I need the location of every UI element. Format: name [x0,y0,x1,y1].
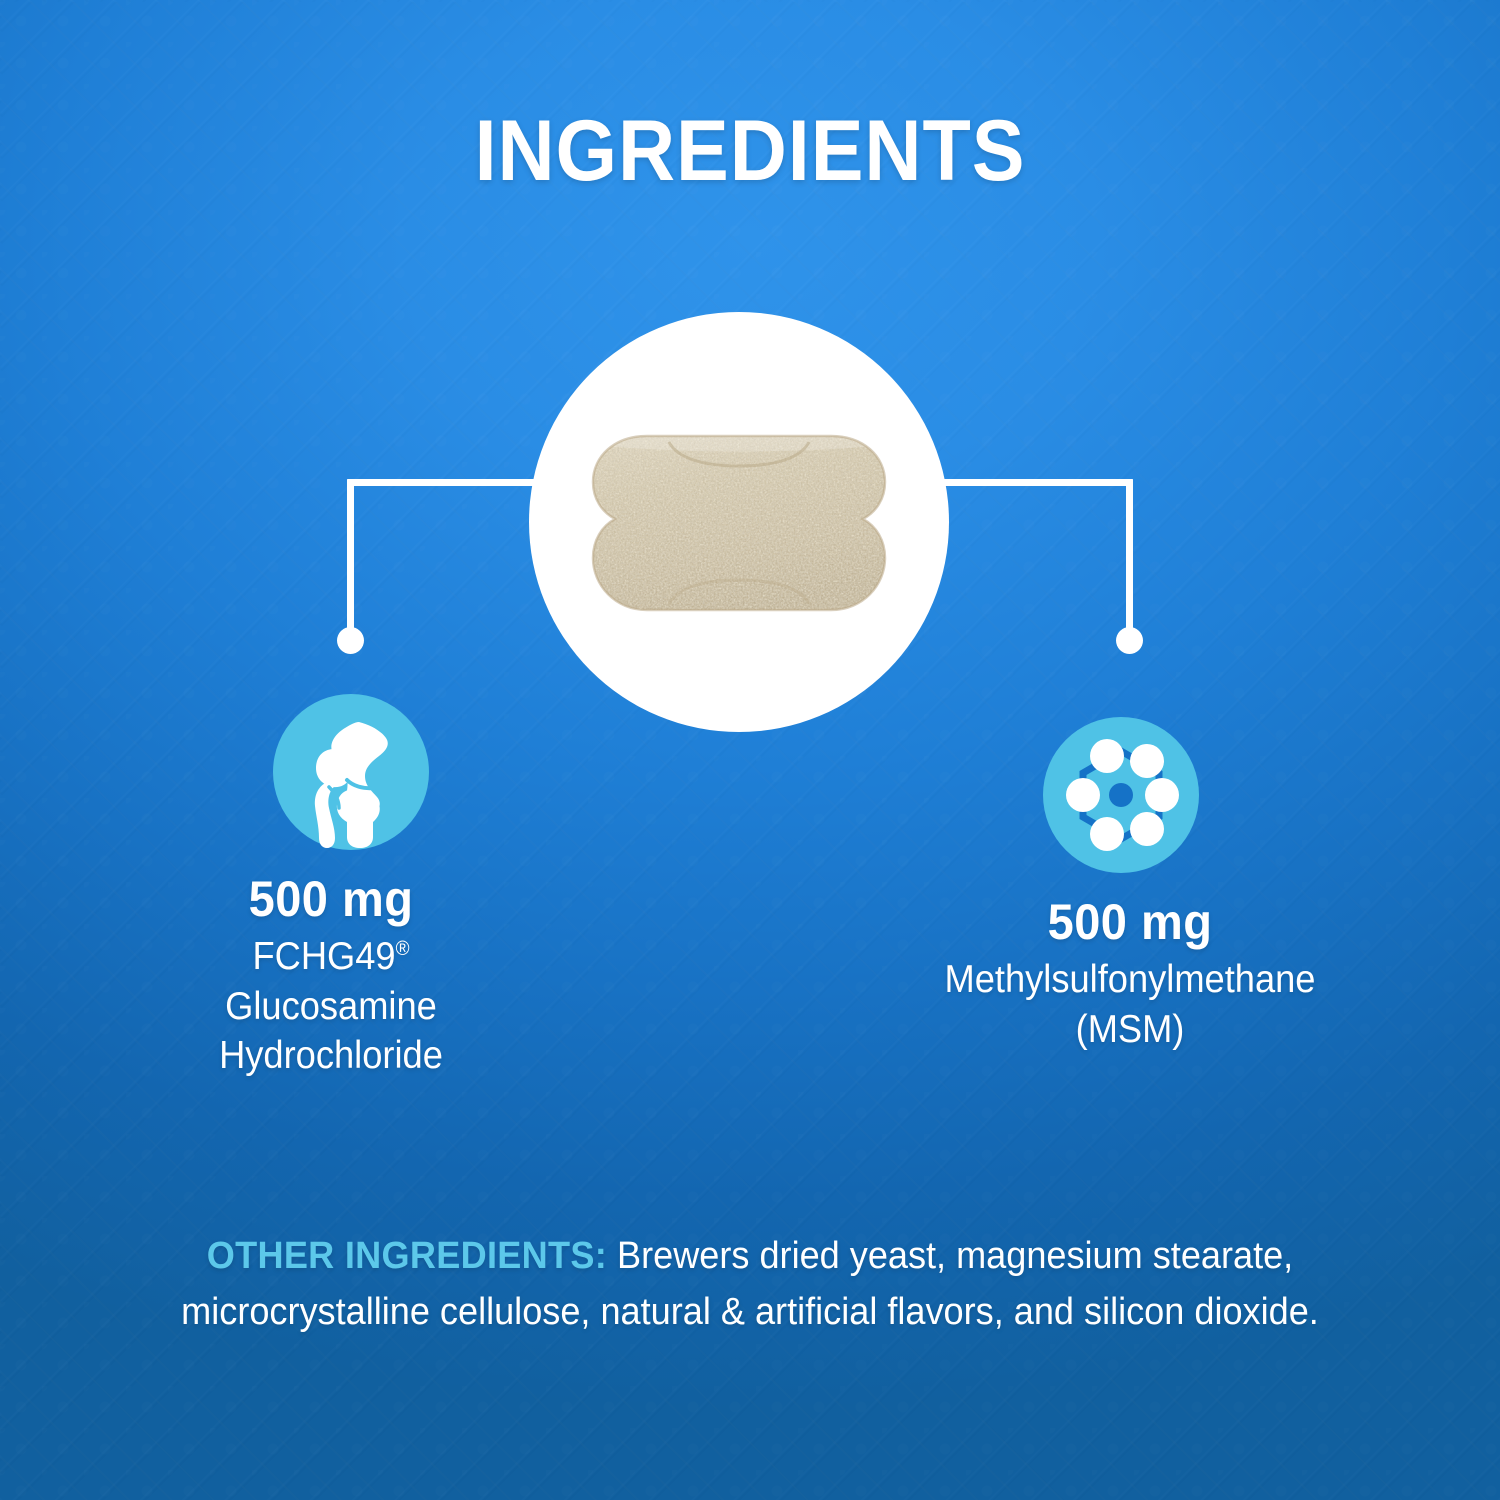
ingredient-block-right: 500 mg Methylsulfonylmethane (MSM) [860,895,1400,1054]
ingredient-name-left: FCHG49® Glucosamine Hydrochloride [116,932,546,1081]
registered-trademark-symbol: ® [396,938,410,960]
ingredient-name-right: Methylsulfonylmethane (MSM) [879,955,1381,1054]
connector-line-left-vertical [347,479,354,639]
dog-bone-soft-chew-image [585,428,893,618]
ingredient-name-right-line1: Methylsulfonylmethane [945,958,1316,1001]
other-ingredients-paragraph: OTHER INGREDIENTS: Brewers dried yeast, … [180,1228,1320,1340]
ingredients-infographic: INGREDIENTS [0,0,1500,1500]
ingredient-name-left-line3: Hydrochloride [219,1034,443,1077]
other-ingredients-label: OTHER INGREDIENTS: [207,1235,607,1277]
ingredient-name-left-line2: Glucosamine [225,985,437,1028]
joint-knee-icon [273,694,429,850]
ingredient-name-left-line1: FCHG49 [253,935,396,978]
ingredient-name-right-line2: (MSM) [1076,1008,1185,1051]
connector-dot-right [1116,627,1143,654]
connector-line-right-vertical [1126,479,1133,639]
page-title: INGREDIENTS [60,108,1440,194]
connector-dot-left [337,627,364,654]
ingredient-amount-left: 500 mg [114,872,548,926]
molecule-icon [1043,717,1199,873]
ingredient-block-left: 500 mg FCHG49® Glucosamine Hydrochloride [100,872,562,1081]
ingredient-amount-right: 500 mg [876,895,1384,949]
